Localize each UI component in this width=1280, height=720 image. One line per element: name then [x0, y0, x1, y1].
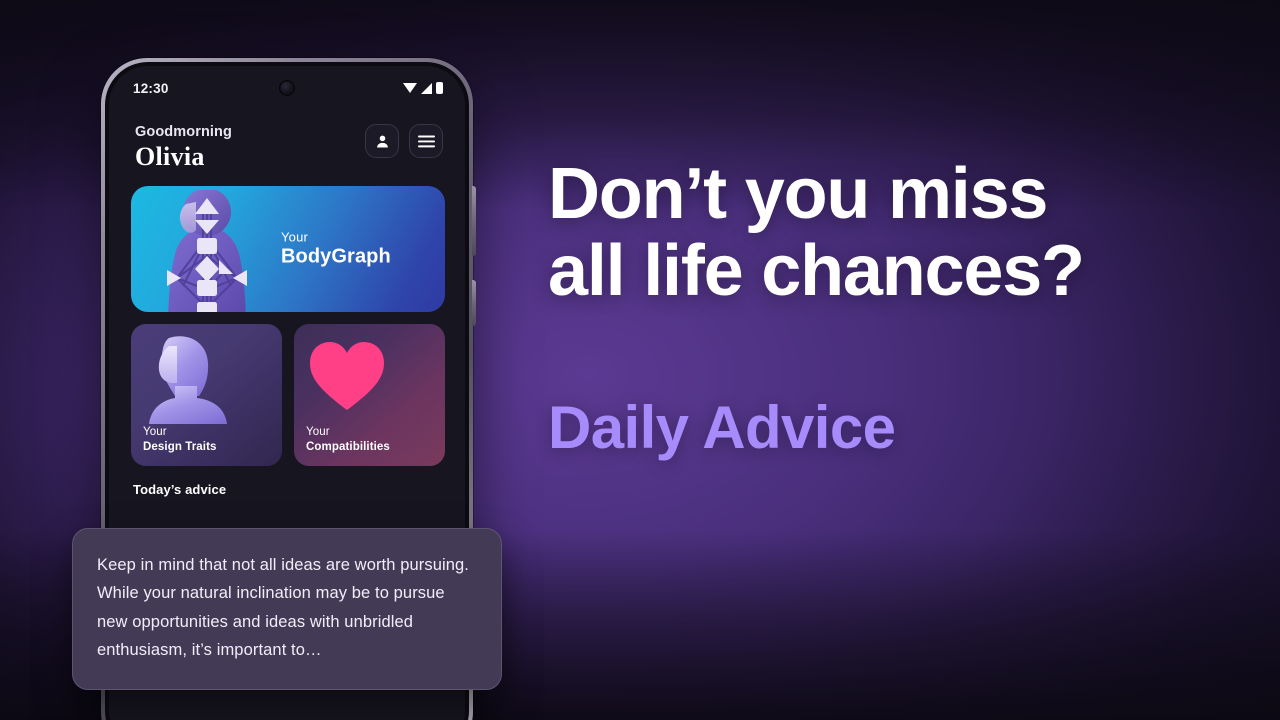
headline: Don’t you miss all life chances?: [548, 156, 1248, 310]
signal-icon: [421, 83, 432, 94]
todays-advice-label: Today’s advice: [109, 466, 465, 497]
status-icons: [403, 82, 443, 94]
battery-icon: [436, 82, 443, 94]
card-bodygraph-text: Your BodyGraph: [281, 230, 391, 269]
card-compatibilities-label: Your Compatibilities: [306, 425, 445, 455]
card-compatibilities-eyebrow: Your: [306, 425, 445, 440]
promo-stage: 12:30 Goodmorning Olivia: [0, 0, 1280, 720]
card-design-traits-label: Your Design Traits: [143, 425, 282, 455]
phone-power-button[interactable]: [472, 280, 476, 326]
promo-copy: Don’t you miss all life chances? Daily A…: [548, 156, 1248, 461]
card-compatibilities-title: Compatibilities: [306, 440, 445, 455]
subtitle: Daily Advice: [548, 396, 1248, 461]
profile-icon: [374, 133, 391, 150]
phone-volume-button[interactable]: [472, 186, 476, 256]
wifi-icon: [403, 83, 417, 93]
user-name: Olivia: [135, 142, 232, 173]
advice-card[interactable]: Keep in mind that not all ideas are wort…: [72, 528, 502, 690]
app-header: Goodmorning Olivia: [109, 110, 465, 172]
status-time: 12:30: [133, 81, 169, 96]
header-actions: [365, 122, 443, 158]
card-design-traits-title: Design Traits: [143, 440, 282, 455]
headline-line-2: all life chances?: [548, 233, 1248, 310]
advice-text: Keep in mind that not all ideas are wort…: [97, 551, 475, 665]
card-design-traits-eyebrow: Your: [143, 425, 282, 440]
card-design-traits[interactable]: Your Design Traits: [131, 324, 282, 466]
card-bodygraph-eyebrow: Your: [281, 230, 391, 245]
bodygraph-figure-illustration: [149, 190, 265, 312]
status-bar: 12:30: [109, 66, 465, 110]
hamburger-menu-icon: [418, 135, 435, 148]
menu-button[interactable]: [409, 124, 443, 158]
mini-card-row: Your Design Traits Your: [131, 324, 445, 466]
card-compatibilities[interactable]: Your Compatibilities: [294, 324, 445, 466]
card-bodygraph-title: BodyGraph: [281, 246, 391, 269]
woman-profile-silhouette-icon: [139, 330, 233, 424]
greeting-block: Goodmorning Olivia: [135, 122, 232, 172]
headline-line-1: Don’t you miss: [548, 154, 1047, 234]
heart-icon: [308, 340, 386, 412]
greeting-text: Goodmorning: [135, 124, 232, 141]
profile-button[interactable]: [365, 124, 399, 158]
card-bodygraph[interactable]: Your BodyGraph: [131, 186, 445, 312]
front-camera-punch-hole: [281, 82, 294, 95]
dashboard-cards: Your BodyGraph: [109, 172, 465, 466]
